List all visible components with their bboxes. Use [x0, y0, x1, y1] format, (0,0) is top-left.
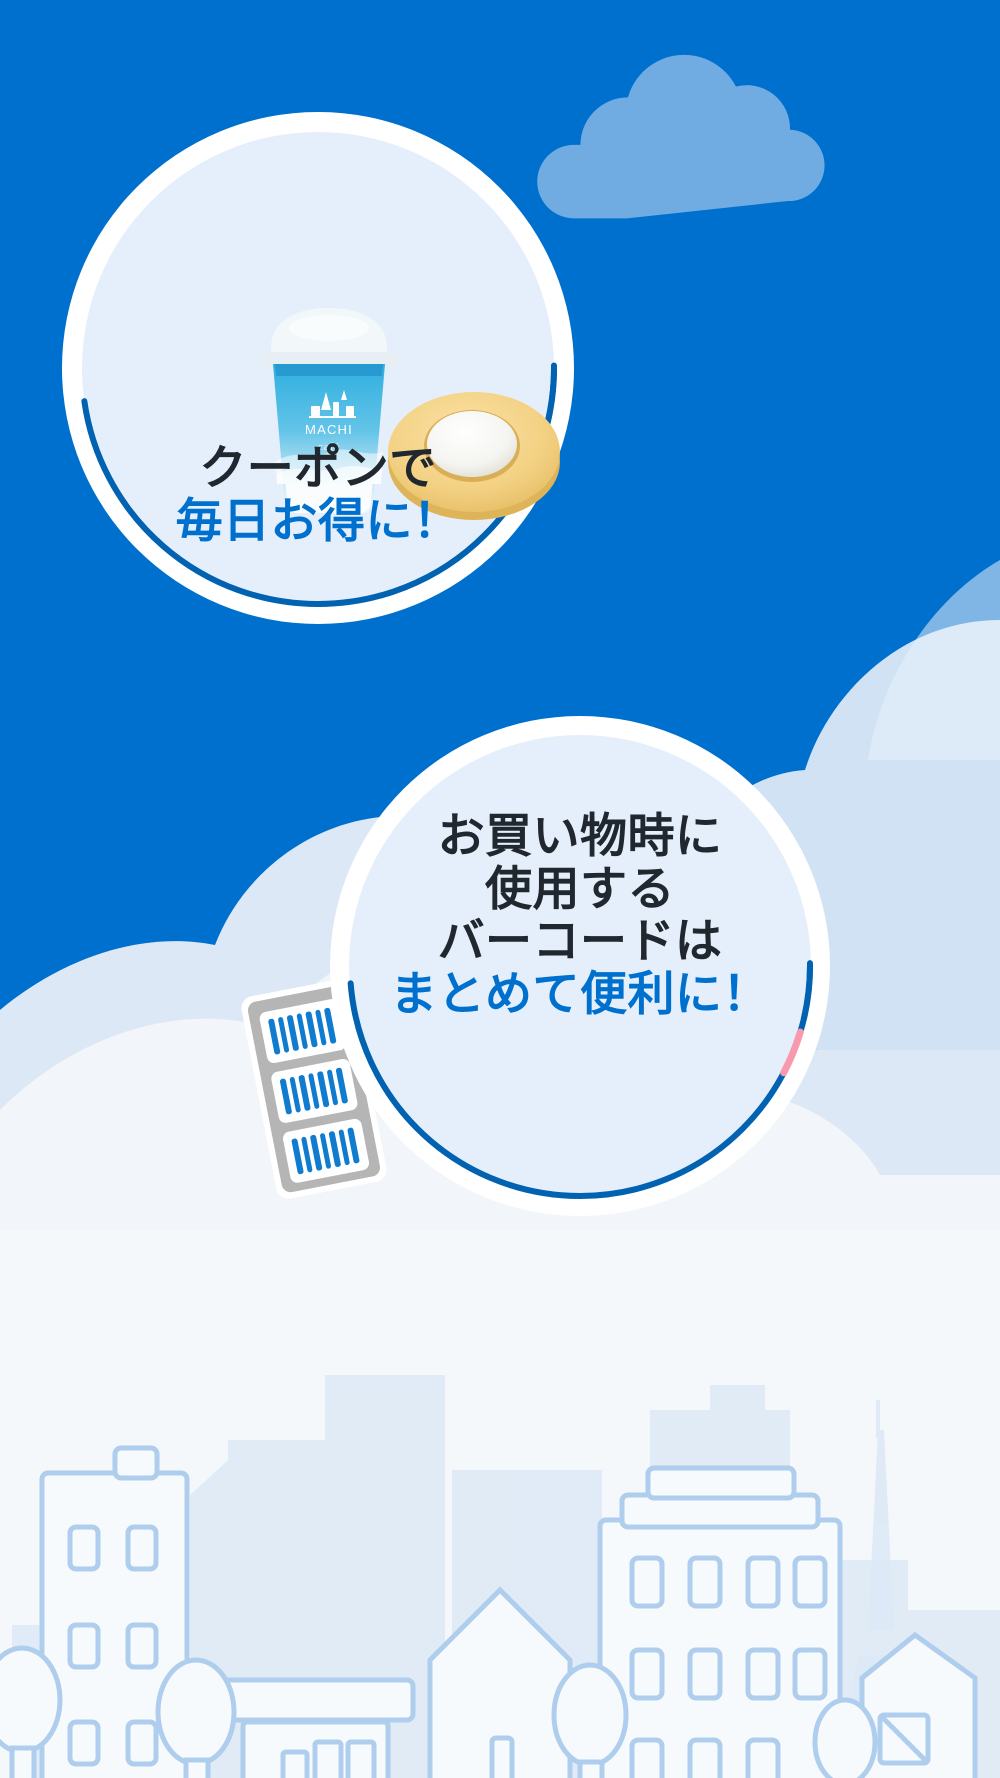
barcode-caption: お買い物時に 使用する バーコードは まとめて便利に！	[330, 810, 830, 1021]
promo-screen: MACHI café クーポンで 毎日お得に！	[0, 0, 1000, 1778]
barcode-caption-line-2: 使用する	[330, 863, 830, 916]
cup-brand-main: MACHI	[305, 422, 353, 437]
barcode-caption-line-3: バーコードは	[330, 915, 830, 968]
coupon-caption-line-1: クーポンで	[62, 442, 574, 495]
promo-card-barcode[interactable]: お買い物時に 使用する バーコードは まとめて便利に！	[330, 716, 830, 1216]
barcode-caption-line-4: まとめて便利に！	[330, 968, 830, 1021]
promo-card-coupon[interactable]: MACHI café クーポンで 毎日お得に！	[62, 112, 574, 624]
barcode-caption-line-1: お買い物時に	[330, 810, 830, 863]
coupon-caption-line-2: 毎日お得に！	[62, 495, 574, 548]
coupon-caption: クーポンで 毎日お得に！	[62, 442, 574, 547]
